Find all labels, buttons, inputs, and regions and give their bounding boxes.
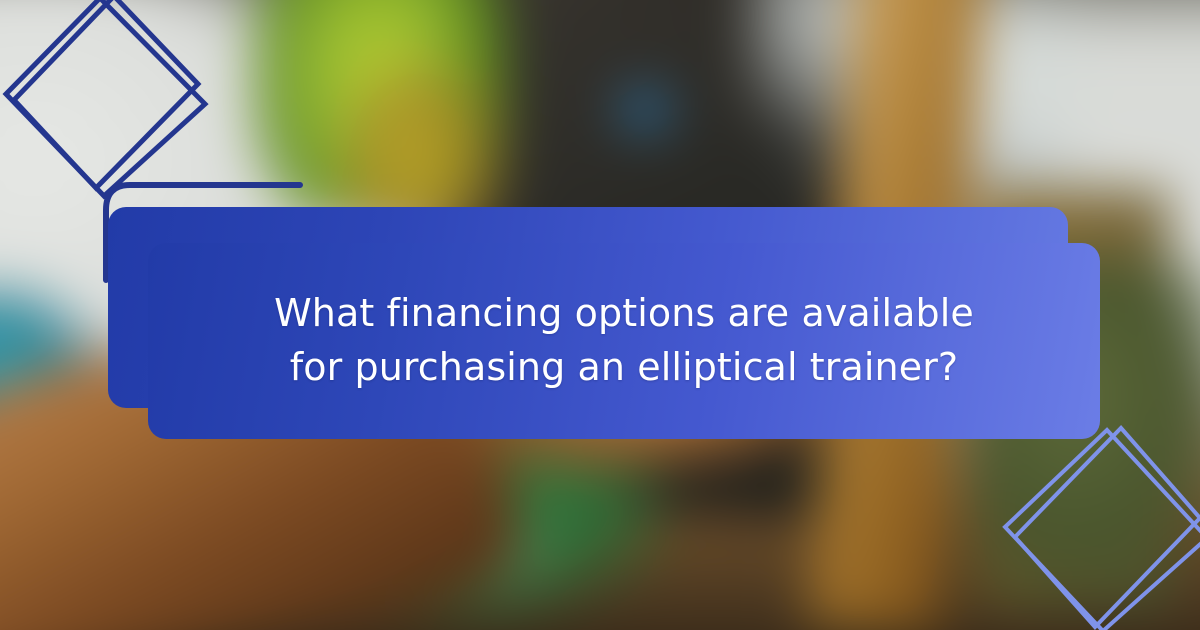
- background-blue-speck: [610, 80, 680, 140]
- rotated-squares-bottom-right-icon: [995, 428, 1200, 630]
- share-card-canvas: What financing options are available for…: [0, 0, 1200, 630]
- rotated-squares-top-left-icon: [0, 0, 230, 206]
- question-card: What financing options are available for…: [148, 243, 1100, 439]
- question-title: What financing options are available for…: [254, 287, 994, 395]
